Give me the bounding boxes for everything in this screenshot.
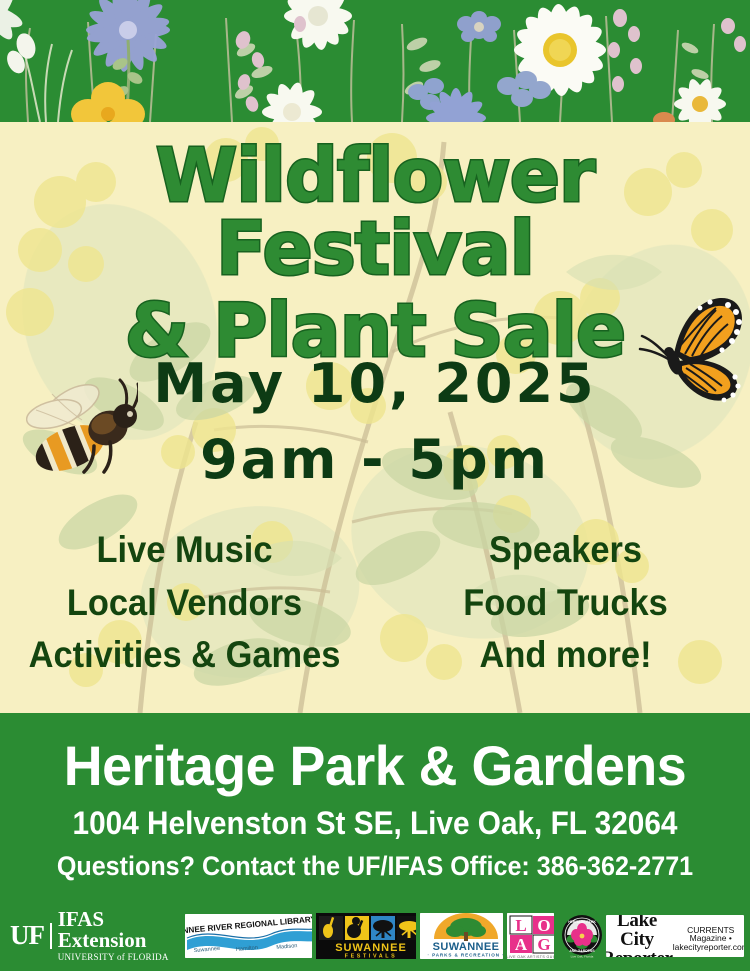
- feature-item: Local Vendors: [13, 577, 356, 630]
- svg-text:HERITAGE PARK: HERITAGE PARK: [569, 920, 597, 924]
- svg-text:G: G: [538, 935, 551, 954]
- features-list: Live Music Local Vendors Activities & Ga…: [0, 524, 750, 682]
- garden-club-art: HERITAGE PARK AND GARDENS Live Oak, Flor…: [558, 913, 606, 959]
- svg-text:LIVE OAK ARTISTS GUILD: LIVE OAK ARTISTS GUILD: [507, 955, 554, 959]
- feature-item: And more!: [394, 629, 737, 682]
- features-column-left: Live Music Local Vendors Activities & Ga…: [0, 524, 375, 682]
- uf-divider: [50, 923, 52, 949]
- title-line-1: Wildflower Festival: [0, 140, 750, 285]
- live-oak-artists-guild-logo: L O A G LIVE OAK ARTISTS GUILD: [507, 913, 554, 959]
- svg-text:AND GARDENS: AND GARDENS: [570, 949, 596, 953]
- svg-text:O: O: [538, 916, 551, 935]
- wildflower-festival-poster: Wildflower Festival & Plant Sale May 10,…: [0, 0, 750, 971]
- feature-item: Live Music: [13, 524, 356, 577]
- suwannee-parks-recreation-logo: SUWANNEE · PARKS & RECREATION ·: [420, 913, 504, 959]
- feature-item: Food Trucks: [394, 577, 737, 630]
- svg-text:· PARKS & RECREATION ·: · PARKS & RECREATION ·: [427, 953, 503, 958]
- monarch-butterfly-icon: [636, 292, 750, 406]
- venue-address: 1004 Helvenston St SE, Live Oak, FL 3206…: [26, 805, 724, 842]
- svg-text:A: A: [515, 935, 528, 954]
- lake-city-reporter-subtitle: CURRENTS Magazine • lakecityreporter.com: [673, 921, 744, 952]
- wildflower-illustration: [0, 0, 750, 122]
- venue-name: Heritage Park & Gardens: [15, 713, 735, 796]
- feature-item: Speakers: [394, 524, 737, 577]
- parks-rec-art: SUWANNEE · PARKS & RECREATION ·: [420, 913, 504, 959]
- bee-icon: [26, 372, 138, 478]
- contact-info: Questions? Contact the UF/IFAS Office: 3…: [26, 851, 724, 882]
- uf-ifas-extension-logo: UF IFAS Extension UNIVERSITY of FLORIDA: [6, 909, 181, 963]
- svg-text:SUWANNEE: SUWANNEE: [432, 941, 499, 953]
- ifas-extension-label: IFAS Extension: [58, 909, 181, 951]
- university-of-florida-label: UNIVERSITY of FLORIDA: [58, 952, 181, 963]
- svg-text:Live Oak, Florida: Live Oak, Florida: [571, 955, 594, 959]
- svg-text:L: L: [516, 916, 527, 935]
- sponsor-logo-strip: UF IFAS Extension UNIVERSITY of FLORIDA …: [0, 907, 750, 965]
- feature-item: Activities & Games: [13, 629, 356, 682]
- suwannee-festivals-art: SUWANNEE FESTIVALS: [316, 913, 416, 959]
- lake-city-reporter-title: Lake City Reporter: [606, 915, 673, 957]
- floral-header-band: [0, 0, 750, 122]
- uf-monogram: UF: [10, 922, 44, 949]
- library-logo-art: SUWANNEE RIVER REGIONAL LIBRARY SYSTEM S…: [185, 914, 312, 958]
- heritage-park-gardens-badge: HERITAGE PARK AND GARDENS Live Oak, Flor…: [558, 913, 602, 959]
- svg-text:FESTIVALS: FESTIVALS: [345, 954, 398, 960]
- features-column-right: Speakers Food Trucks And more!: [375, 524, 750, 682]
- suwannee-river-library-logo: SUWANNEE RIVER REGIONAL LIBRARY SYSTEM S…: [185, 914, 312, 958]
- loag-art: L O A G LIVE OAK ARTISTS GUILD: [507, 913, 554, 959]
- suwannee-festivals-logo: SUWANNEE FESTIVALS: [316, 913, 416, 959]
- lake-city-reporter-logo: Lake City Reporter CURRENTS Magazine • l…: [606, 915, 744, 957]
- svg-text:SUWANNEE: SUWANNEE: [335, 942, 407, 954]
